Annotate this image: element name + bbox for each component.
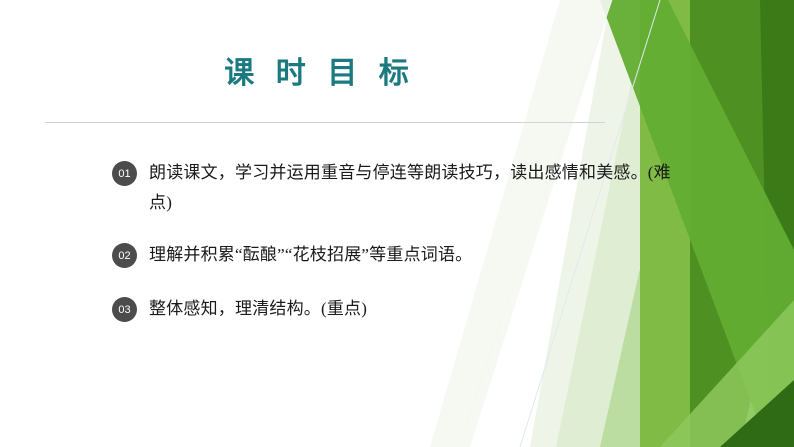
page-title: 课 时 目 标 [0,48,640,92]
objectives-list: 01 朗读课文，学习并运用重音与停连等朗读技巧，读出感情和美感。(难点) 02 … [112,158,672,346]
title-container: 课 时 目 标 [0,48,640,92]
list-item: 02 理解并积累“酝酿”“花枝招展”等重点词语。 [112,240,672,270]
slide-root: 课 时 目 标 01 朗读课文，学习并运用重音与停连等朗读技巧，读出感情和美感。… [0,0,794,447]
objective-text-03: 整体感知，理清结构。(重点) [149,294,367,324]
list-item: 03 整体感知，理清结构。(重点) [112,294,672,324]
objective-text-02: 理解并积累“酝酿”“花枝招展”等重点词语。 [149,240,472,270]
objective-text-01: 朗读课文，学习并运用重音与停连等朗读技巧，读出感情和美感。(难点) [149,158,672,218]
bullet-number-01: 01 [112,161,137,186]
bullet-number-02: 02 [112,243,137,268]
list-item: 01 朗读课文，学习并运用重音与停连等朗读技巧，读出感情和美感。(难点) [112,158,672,218]
title-divider [45,122,605,123]
bullet-number-03: 03 [112,297,137,322]
